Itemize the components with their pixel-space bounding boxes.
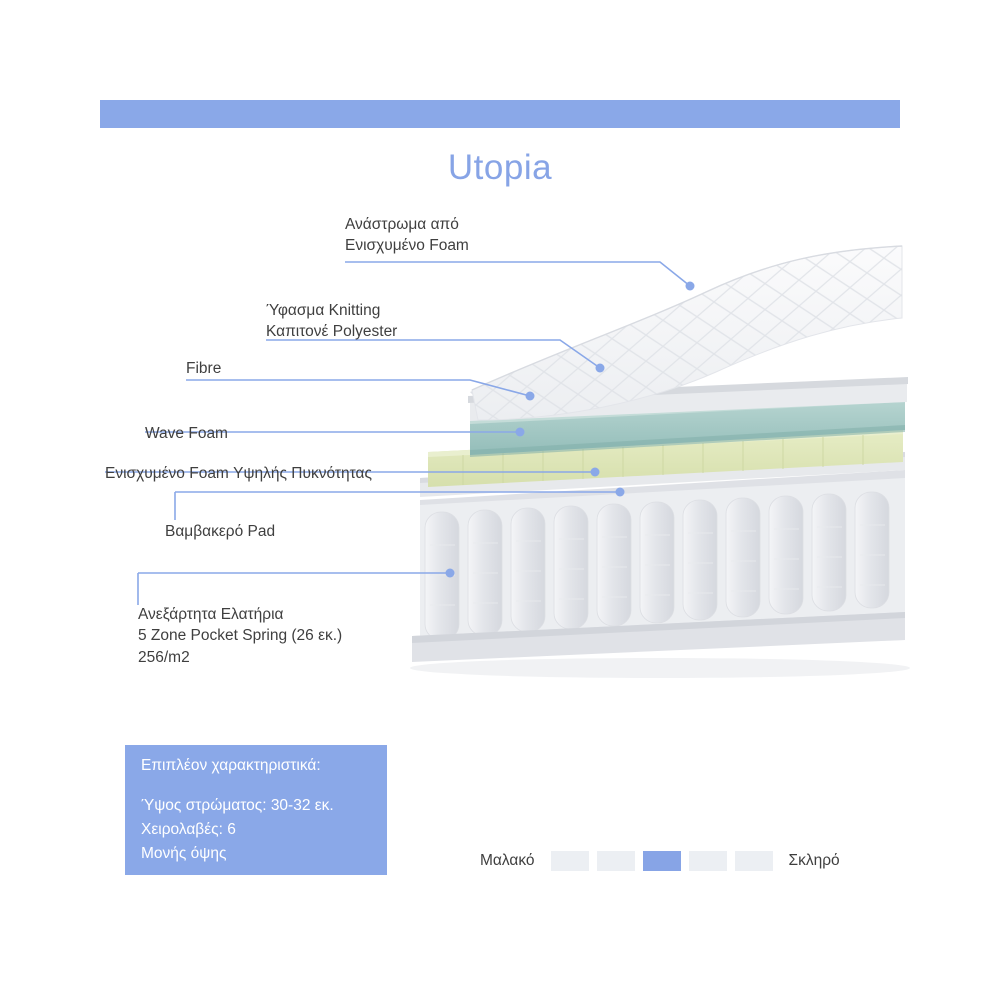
callout-line: 5 Zone Pocket Spring (26 εκ.) bbox=[138, 625, 342, 646]
feature-item: Χειρολαβές: 6 bbox=[141, 818, 334, 842]
firmness-scale: Μαλακό Σκληρό bbox=[480, 846, 870, 876]
firmness-step-5[interactable] bbox=[735, 851, 773, 871]
features-box: Επιπλέον χαρακτηριστικά: Ύψος στρώματος:… bbox=[125, 745, 387, 875]
callout-line: Ανεξάρτητα Ελατήρια bbox=[138, 604, 342, 625]
features-title: Επιπλέον χαρακτηριστικά: bbox=[141, 757, 321, 775]
callout-pocket-springs: Ανεξάρτητα Ελατήρια 5 Zone Pocket Spring… bbox=[138, 604, 342, 668]
callout-line: Wave Foam bbox=[145, 423, 228, 444]
callout-wave-foam: Wave Foam bbox=[145, 423, 228, 444]
firmness-hard-label: Σκληρό bbox=[789, 852, 840, 870]
feature-item: Μονής όψης bbox=[141, 842, 334, 866]
firmness-step-1[interactable] bbox=[551, 851, 589, 871]
firmness-step-4[interactable] bbox=[689, 851, 727, 871]
callout-knitting-fabric: Ύφασμα Knitting Καπιτονέ Polyester bbox=[266, 300, 397, 343]
callout-top-foam-layer: Ανάστρωμα από Ενισχυμένο Foam bbox=[345, 214, 469, 257]
callout-line: Ενισχυμένο Foam bbox=[345, 235, 469, 256]
firmness-steps bbox=[551, 851, 773, 871]
callout-high-density-foam: Ενισχυμένο Foam Υψηλής Πυκνότητας bbox=[105, 463, 372, 484]
firmness-soft-label: Μαλακό bbox=[480, 852, 535, 870]
callout-line: Ανάστρωμα από bbox=[345, 214, 469, 235]
callout-line: Fibre bbox=[186, 358, 221, 379]
callout-cotton-pad: Βαμβακερό Pad bbox=[165, 521, 275, 542]
firmness-step-2[interactable] bbox=[597, 851, 635, 871]
callout-line: Ενισχυμένο Foam Υψηλής Πυκνότητας bbox=[105, 463, 372, 484]
callout-fibre: Fibre bbox=[186, 358, 221, 379]
callout-line: Ύφασμα Knitting bbox=[266, 300, 397, 321]
features-list: Ύψος στρώματος: 30-32 εκ. Χειρολαβές: 6 … bbox=[141, 794, 334, 866]
feature-item: Ύψος στρώματος: 30-32 εκ. bbox=[141, 794, 334, 818]
callout-line: 256/m2 bbox=[138, 647, 342, 668]
callout-line: Βαμβακερό Pad bbox=[165, 521, 275, 542]
firmness-step-3[interactable] bbox=[643, 851, 681, 871]
callout-line: Καπιτονέ Polyester bbox=[266, 321, 397, 342]
product-infographic: Utopia bbox=[0, 0, 1000, 1000]
